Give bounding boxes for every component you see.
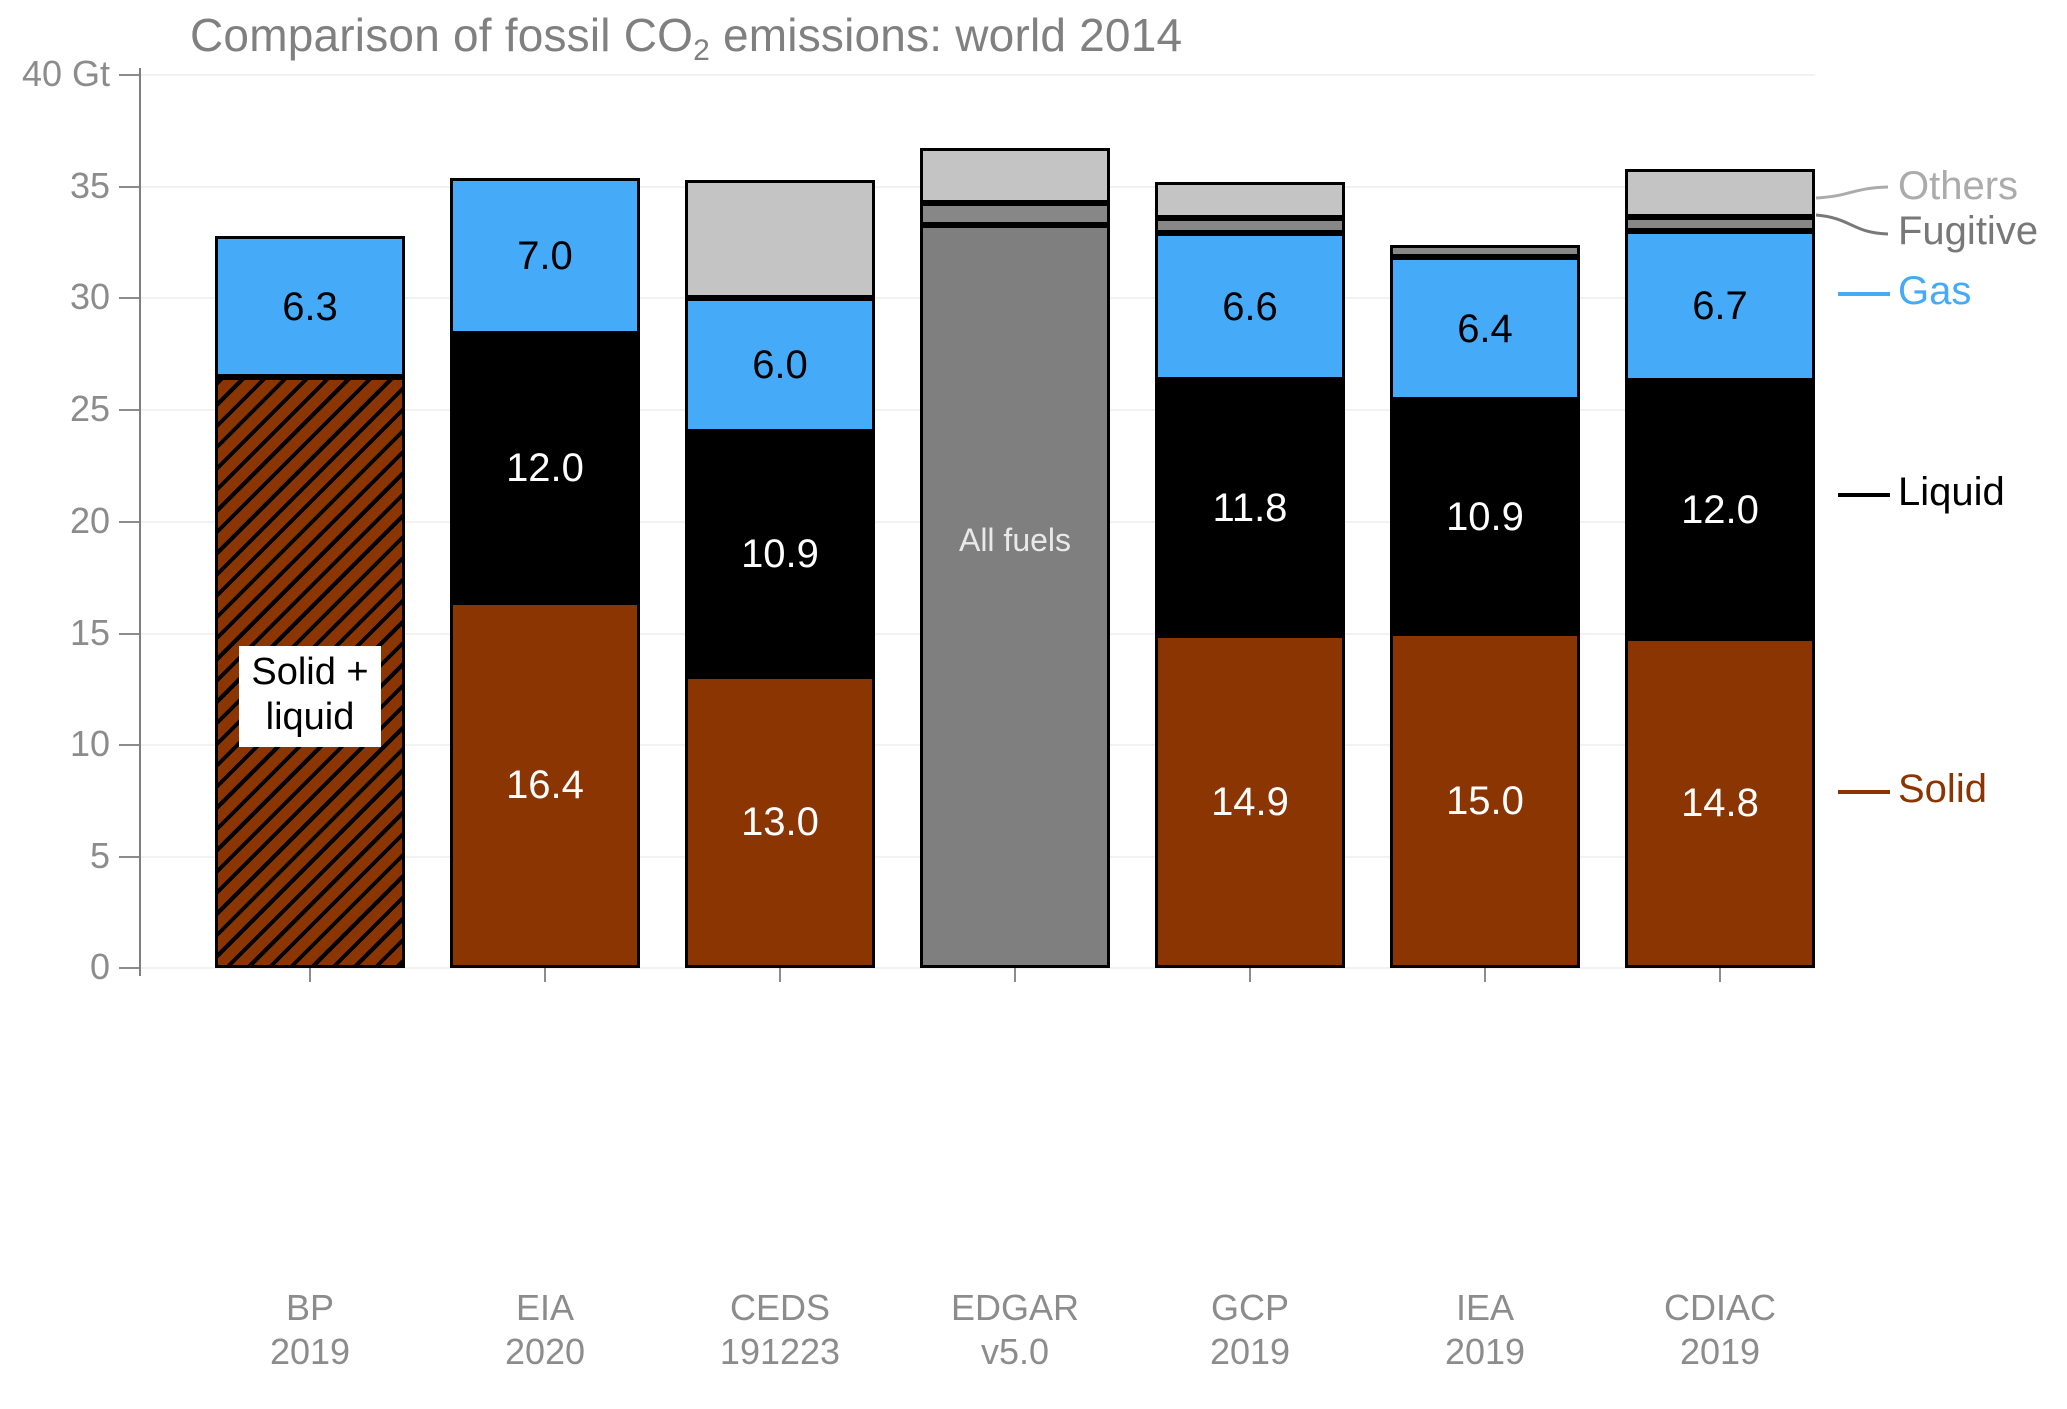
bar-ceds-liquid-value: 10.9 <box>741 534 819 574</box>
chart-title: Comparison of fossil CO2 emissions: worl… <box>190 8 1182 62</box>
bar-gcp-solid-value: 14.9 <box>1211 782 1289 822</box>
chart-title-post: emissions: world 2014 <box>710 9 1182 61</box>
bar-cdiac-segment-liquid[interactable]: 12.0 <box>1625 381 1815 638</box>
legend-label-others[interactable]: Others <box>1898 164 2018 209</box>
bar-eia-segment-gas[interactable]: 7.0 <box>450 178 640 334</box>
bar-bp-label-line2: liquid <box>251 695 368 740</box>
x-label-cdiac-sub: 2019 <box>1590 1330 1850 1374</box>
y-tick-20 <box>119 521 139 523</box>
bar-cdiac-segment-fugitive[interactable] <box>1625 217 1815 231</box>
x-label-edgar-name: EDGAR <box>885 1286 1145 1330</box>
y-tick-label-20: 20 <box>0 500 110 542</box>
legend-label-liquid[interactable]: Liquid <box>1898 470 2005 515</box>
bar-gcp-segment-gas[interactable]: 6.6 <box>1155 233 1345 380</box>
bar-iea-segment-fugitive[interactable] <box>1390 245 1580 257</box>
bar-eia-gas-value: 7.0 <box>517 236 573 276</box>
bar-cdiac-segment-solid[interactable]: 14.8 <box>1625 638 1815 968</box>
y-tick-35 <box>119 186 139 188</box>
y-tick-label-35: 35 <box>0 165 110 207</box>
y-tick-25 <box>119 409 139 411</box>
bar-gcp-segment-liquid[interactable]: 11.8 <box>1155 380 1345 635</box>
legend-label-gas[interactable]: Gas <box>1898 269 1971 314</box>
bar-gcp-liquid-value: 11.8 <box>1213 488 1288 528</box>
bar-gcp[interactable]: 6.6 11.8 14.9 <box>1155 182 1345 968</box>
bar-iea-solid-value: 15.0 <box>1446 781 1524 821</box>
legend-label-solid[interactable]: Solid <box>1898 767 1987 812</box>
bar-cdiac-solid-value: 14.8 <box>1681 783 1759 823</box>
y-tick-5 <box>119 856 139 858</box>
bar-eia-segment-solid[interactable]: 16.4 <box>450 602 640 968</box>
y-tick-label-40: 40 Gt <box>0 53 110 95</box>
bar-bp-solid-liquid-label: Solid + liquid <box>239 646 380 747</box>
bar-bp-segment-solid-liquid[interactable]: Solid + liquid <box>215 377 405 968</box>
chart-title-subscript: 2 <box>693 34 710 67</box>
y-tick-label-0: 0 <box>0 946 110 988</box>
x-label-ceds-name: CEDS <box>650 1286 910 1330</box>
bar-iea-segment-gas[interactable]: 6.4 <box>1390 257 1580 400</box>
x-tick-bp <box>309 968 311 982</box>
x-label-iea: IEA 2019 <box>1355 1286 1615 1374</box>
bar-ceds-segment-solid[interactable]: 13.0 <box>685 676 875 968</box>
bar-cdiac-liquid-value: 12.0 <box>1681 490 1759 530</box>
x-tick-iea <box>1484 968 1486 982</box>
x-label-gcp-sub: 2019 <box>1120 1330 1380 1374</box>
y-tick-40 <box>119 74 139 76</box>
x-tick-cdiac <box>1719 968 1721 982</box>
x-label-cdiac: CDIAC 2019 <box>1590 1286 1850 1374</box>
bar-gcp-segment-fugitive[interactable] <box>1155 218 1345 233</box>
bar-edgar-segment-all-fuels[interactable]: All fuels <box>920 225 1110 968</box>
bar-bp-gas-value: 6.3 <box>282 287 338 327</box>
bar-iea-gas-value: 6.4 <box>1457 309 1513 349</box>
x-label-edgar: EDGAR v5.0 <box>885 1286 1145 1374</box>
bar-iea-segment-liquid[interactable]: 10.9 <box>1390 400 1580 633</box>
bar-gcp-segment-others[interactable] <box>1155 182 1345 218</box>
x-label-edgar-sub: v5.0 <box>885 1330 1145 1374</box>
x-label-iea-name: IEA <box>1355 1286 1615 1330</box>
bar-cdiac-segment-gas[interactable]: 6.7 <box>1625 231 1815 381</box>
bar-eia[interactable]: 7.0 12.0 16.4 <box>450 178 640 968</box>
y-tick-15 <box>119 633 139 635</box>
chart-title-pre: Comparison of fossil CO <box>190 9 693 61</box>
y-tick-label-25: 25 <box>0 388 110 430</box>
x-label-iea-sub: 2019 <box>1355 1330 1615 1374</box>
y-tick-label-10: 10 <box>0 723 110 765</box>
gridline-40 <box>141 74 1815 76</box>
x-label-cdiac-name: CDIAC <box>1590 1286 1850 1330</box>
x-label-bp-sub: 2019 <box>180 1330 440 1374</box>
bar-eia-segment-liquid[interactable]: 12.0 <box>450 334 640 602</box>
y-tick-0 <box>119 967 139 969</box>
bar-cdiac-segment-others[interactable] <box>1625 169 1815 217</box>
legend-label-fugitive[interactable]: Fugitive <box>1898 209 2038 254</box>
x-label-bp: BP 2019 <box>180 1286 440 1374</box>
x-label-gcp: GCP 2019 <box>1120 1286 1380 1374</box>
x-label-ceds-sub: 191223 <box>650 1330 910 1374</box>
y-tick-10 <box>119 744 139 746</box>
chart-root: Comparison of fossil CO2 emissions: worl… <box>0 0 2067 1409</box>
bar-iea-segment-solid[interactable]: 15.0 <box>1390 633 1580 968</box>
y-tick-label-5: 5 <box>0 835 110 877</box>
bar-ceds-segment-liquid[interactable]: 10.9 <box>685 432 875 676</box>
y-tick-30 <box>119 297 139 299</box>
bar-bp-label-line1: Solid + <box>251 650 368 695</box>
x-label-ceds: CEDS 191223 <box>650 1286 910 1374</box>
bar-bp-segment-gas[interactable]: 6.3 <box>215 236 405 377</box>
bar-gcp-gas-value: 6.6 <box>1222 287 1278 327</box>
x-label-gcp-name: GCP <box>1120 1286 1380 1330</box>
bar-ceds-segment-others[interactable] <box>685 180 875 298</box>
bar-eia-liquid-value: 12.0 <box>506 448 584 488</box>
x-tick-ceds <box>779 968 781 982</box>
x-tick-eia <box>544 968 546 982</box>
x-label-eia-name: EIA <box>415 1286 675 1330</box>
bar-edgar-all-fuels-label: All fuels <box>959 524 1071 556</box>
bar-ceds-solid-value: 13.0 <box>741 802 819 842</box>
bar-ceds-gas-value: 6.0 <box>752 345 808 385</box>
leader-line-fugitive <box>1816 215 1888 234</box>
bar-eia-solid-value: 16.4 <box>506 765 584 805</box>
y-tick-label-30: 30 <box>0 276 110 318</box>
bar-edgar-segment-others[interactable] <box>920 148 1110 203</box>
x-tick-edgar <box>1014 968 1016 982</box>
bar-cdiac-gas-value: 6.7 <box>1692 286 1748 326</box>
x-label-eia-sub: 2020 <box>415 1330 675 1374</box>
leader-line-others <box>1816 187 1888 198</box>
bar-iea-liquid-value: 10.9 <box>1446 497 1524 537</box>
bar-gcp-segment-solid[interactable]: 14.9 <box>1155 635 1345 968</box>
bar-ceds-segment-gas[interactable]: 6.0 <box>685 298 875 432</box>
y-tick-label-15: 15 <box>0 612 110 654</box>
bar-cdiac[interactable]: 6.7 12.0 14.8 <box>1625 169 1815 968</box>
bar-edgar[interactable]: All fuels <box>920 148 1110 968</box>
bar-bp[interactable]: 6.3 Solid + liquid <box>215 236 405 968</box>
x-label-eia: EIA 2020 <box>415 1286 675 1374</box>
bar-edgar-segment-fugitive[interactable] <box>920 203 1110 225</box>
x-label-bp-name: BP <box>180 1286 440 1330</box>
bar-ceds[interactable]: 6.0 10.9 13.0 <box>685 180 875 968</box>
bar-iea[interactable]: 6.4 10.9 15.0 <box>1390 245 1580 968</box>
x-tick-gcp <box>1249 968 1251 982</box>
